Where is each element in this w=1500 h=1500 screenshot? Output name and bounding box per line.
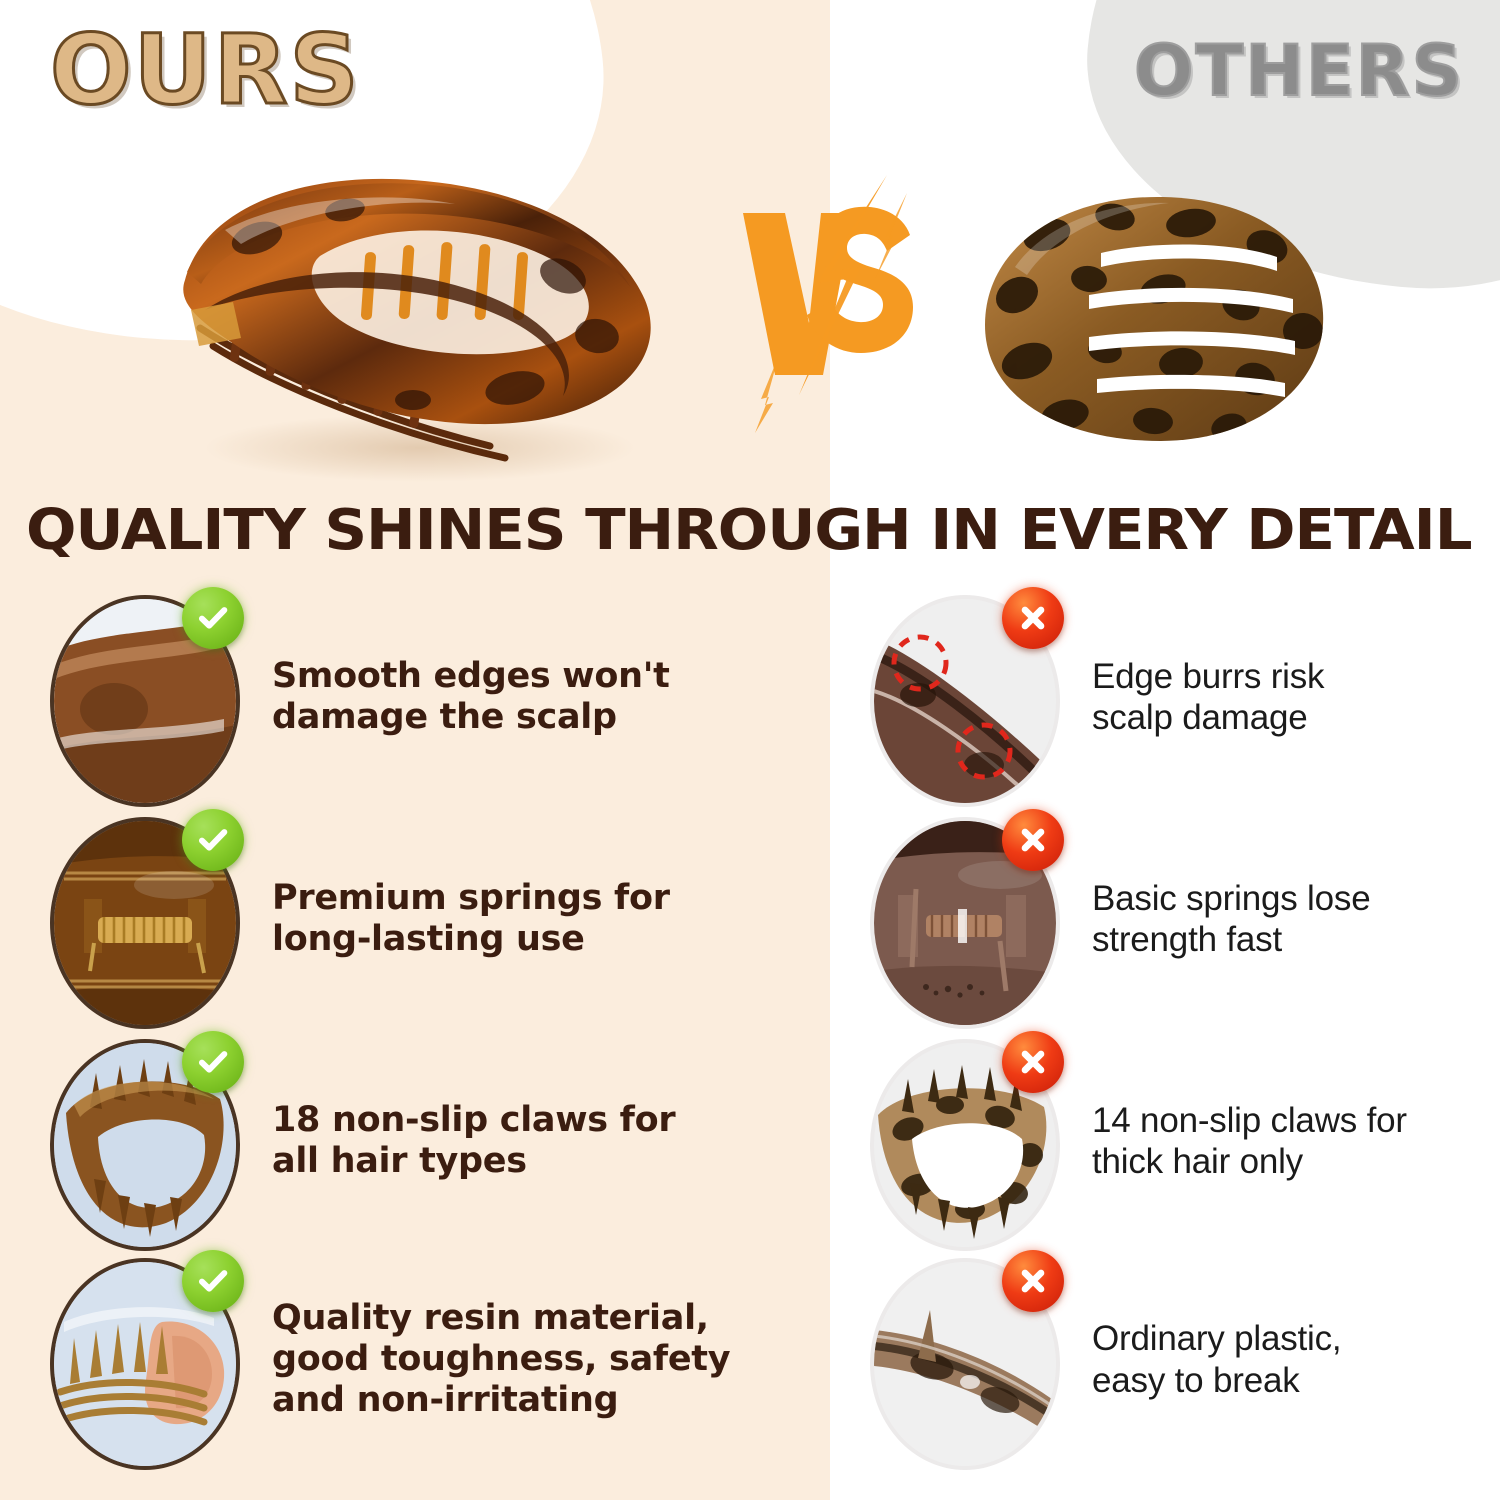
thumbnail-wrapper [42, 1254, 242, 1466]
cross-icon [1002, 1250, 1064, 1312]
list-item: Edge burrs risk scalp damage [862, 586, 1482, 808]
feature-text: Quality resin material, good toughness, … [242, 1298, 730, 1422]
thumbnail-wrapper [862, 1035, 1062, 1247]
feature-text: Basic springs lose strength fast [1062, 878, 1370, 961]
cross-icon [1002, 587, 1064, 649]
check-icon [182, 1031, 244, 1093]
feature-text: Smooth edges won't damage the scalp [242, 656, 670, 739]
thumbnail-wrapper [862, 591, 1062, 803]
cross-icon [1002, 1031, 1064, 1093]
check-icon [182, 1250, 244, 1312]
thumbnail-wrapper [42, 813, 242, 1025]
others-feature-list: Edge burrs risk scalp damage [862, 586, 1482, 1467]
list-item: Quality resin material, good toughness, … [42, 1252, 782, 1467]
feature-text: 14 non-slip claws for thick hair only [1062, 1100, 1407, 1183]
page-headline: QUALITY SHINES THROUGH IN EVERY DETAIL [26, 498, 1500, 563]
check-icon [182, 587, 244, 649]
thumbnail-wrapper [862, 1254, 1062, 1466]
thumbnail-wrapper [862, 813, 1062, 1025]
feature-text: 18 non-slip claws for all hair types [242, 1100, 675, 1183]
thumbnail-wrapper [42, 591, 242, 803]
list-item: 18 non-slip claws for all hair types [42, 1030, 782, 1252]
thumbnail-wrapper [42, 1035, 242, 1247]
list-item: Smooth edges won't damage the scalp [42, 586, 782, 808]
list-item: Premium springs for long-lasting use [42, 808, 782, 1030]
list-item: Ordinary plastic, easy to break [862, 1252, 1482, 1467]
check-icon [182, 809, 244, 871]
cross-icon [1002, 809, 1064, 871]
others-product-image [955, 175, 1355, 465]
vs-badge [735, 175, 935, 445]
comparison-infographic: OURS OTHERS [0, 0, 1500, 1500]
ours-heading: OURS [50, 22, 361, 118]
list-item: 14 non-slip claws for thick hair only [862, 1030, 1482, 1252]
list-item: Basic springs lose strength fast [862, 808, 1482, 1030]
feature-text: Edge burrs risk scalp damage [1062, 656, 1324, 739]
ours-feature-list: Smooth edges won't damage the scalp [42, 586, 782, 1467]
ours-product-image [145, 160, 675, 490]
feature-text: Ordinary plastic, easy to break [1062, 1318, 1341, 1401]
others-heading: OTHERS [1134, 36, 1464, 106]
feature-text: Premium springs for long-lasting use [242, 878, 670, 961]
